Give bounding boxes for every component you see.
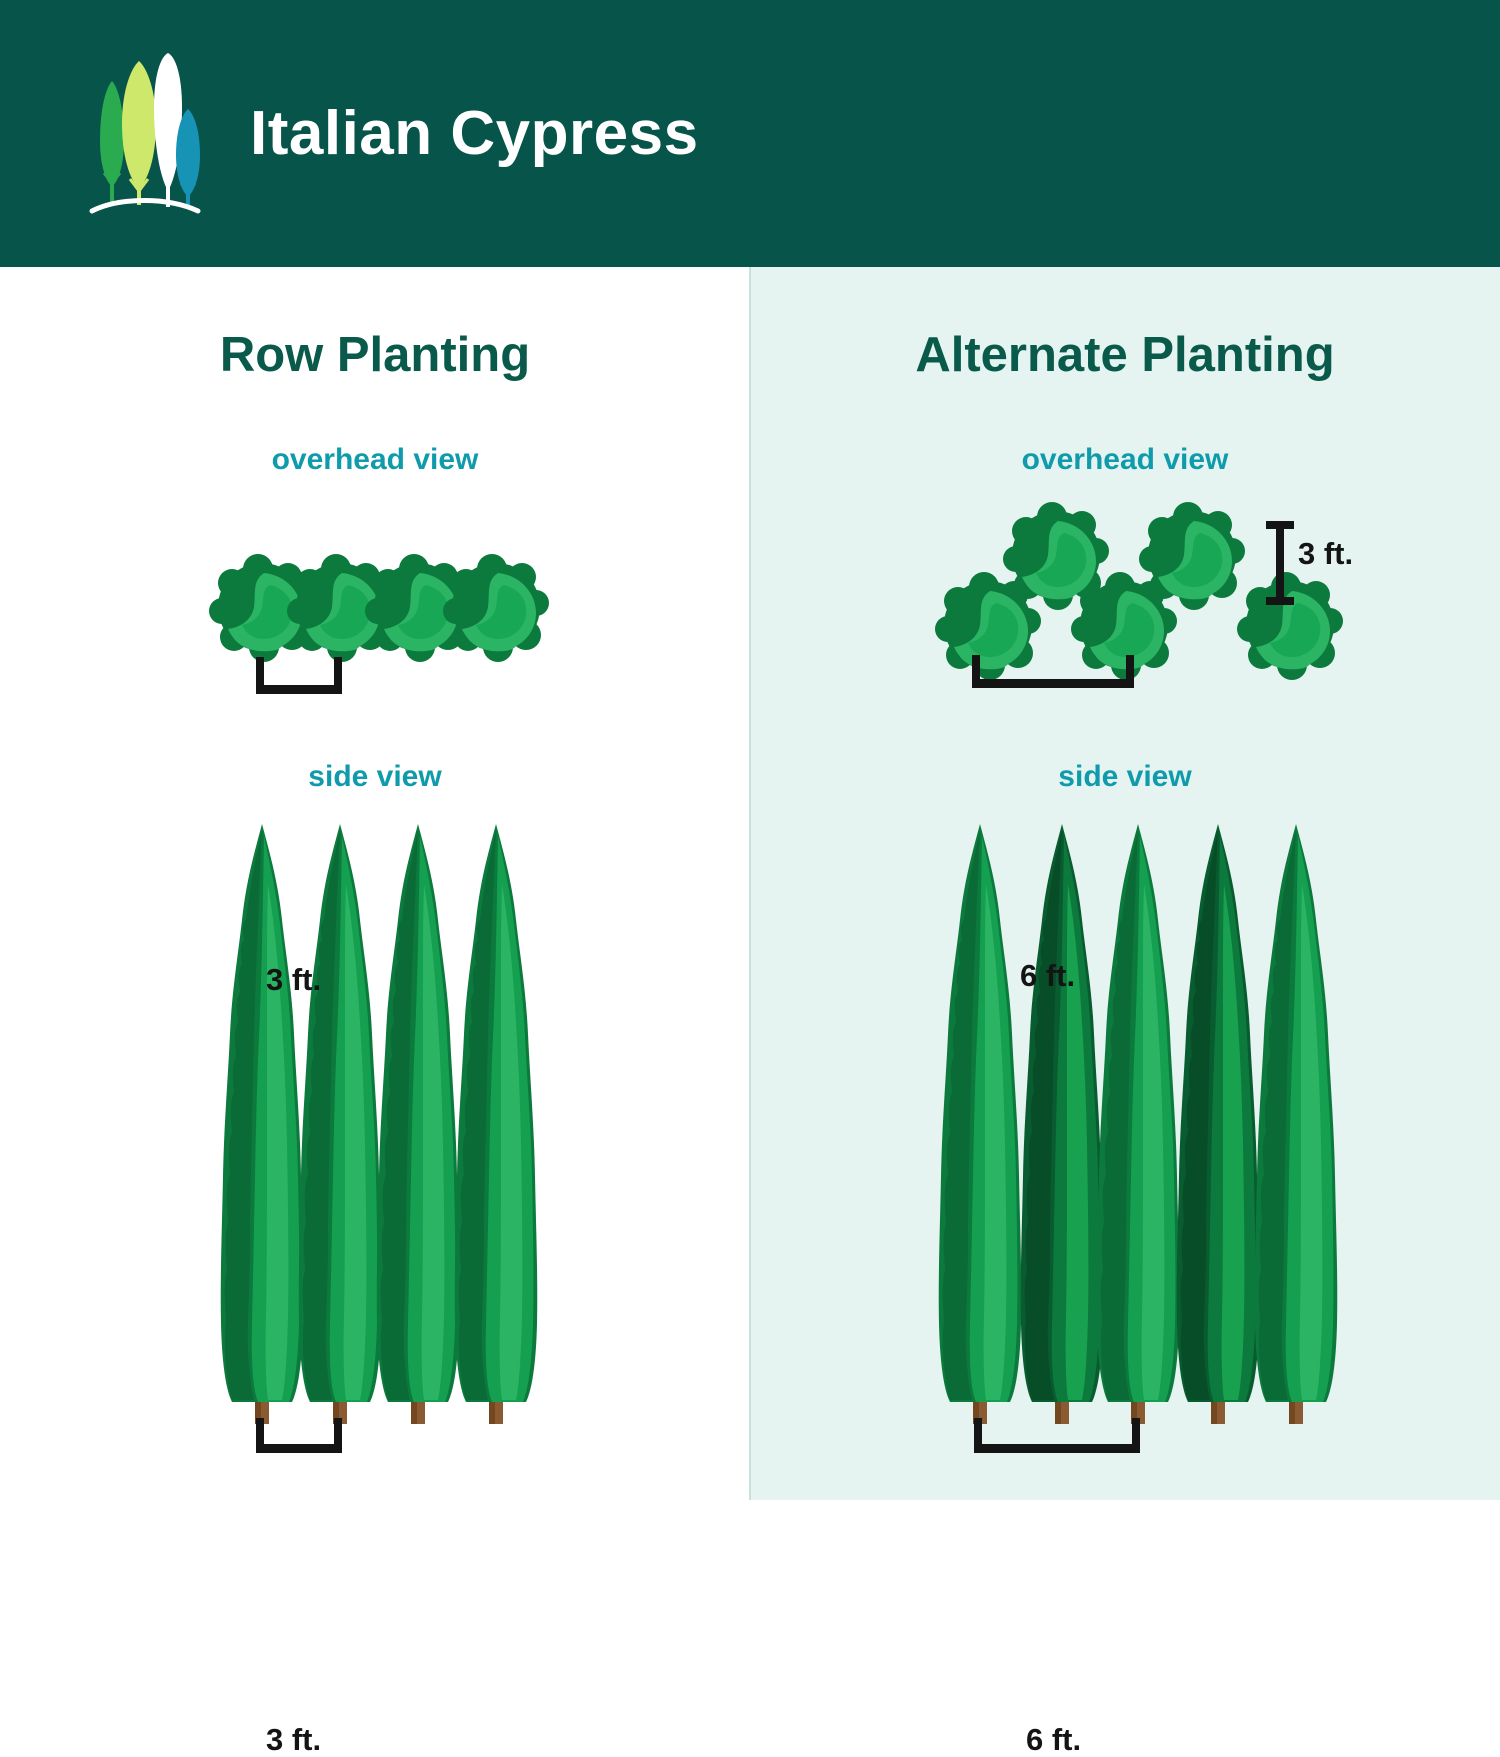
infographic-page: Italian Cypress Row Planting overhead vi… [0,0,1500,1500]
overhead-measure-label-row: 3 ft. [266,964,321,995]
overhead-measure-label-alt: 6 ft. [1020,960,1075,991]
row-planting-svg [0,267,750,1500]
side-measure-label-alt: 6 ft. [1026,1724,1081,1755]
side-view-tree-row [221,824,543,1424]
vertical-measure-label-alt: 3 ft. [1298,538,1353,569]
overhead-canopy-row [209,554,549,662]
row-planting-illustration [0,267,750,1500]
panel-divider [749,267,751,1500]
page-title: Italian Cypress [250,103,699,165]
cypress-trees-logo [78,51,206,216]
alternate-planting-illustration [750,267,1500,1500]
panel-row-planting: Row Planting overhead view side view [0,267,750,1500]
header-bar: Italian Cypress [0,0,1500,267]
alternate-planting-svg [750,267,1500,1500]
side-measure-label-row: 3 ft. [266,1724,321,1755]
panels-container: Row Planting overhead view side view [0,267,1500,1500]
side-view-tree-row-alt [939,824,1343,1424]
panel-alternate-planting: Alternate Planting overhead view side vi… [750,267,1500,1500]
overhead-measure-bracket-row [256,657,342,694]
